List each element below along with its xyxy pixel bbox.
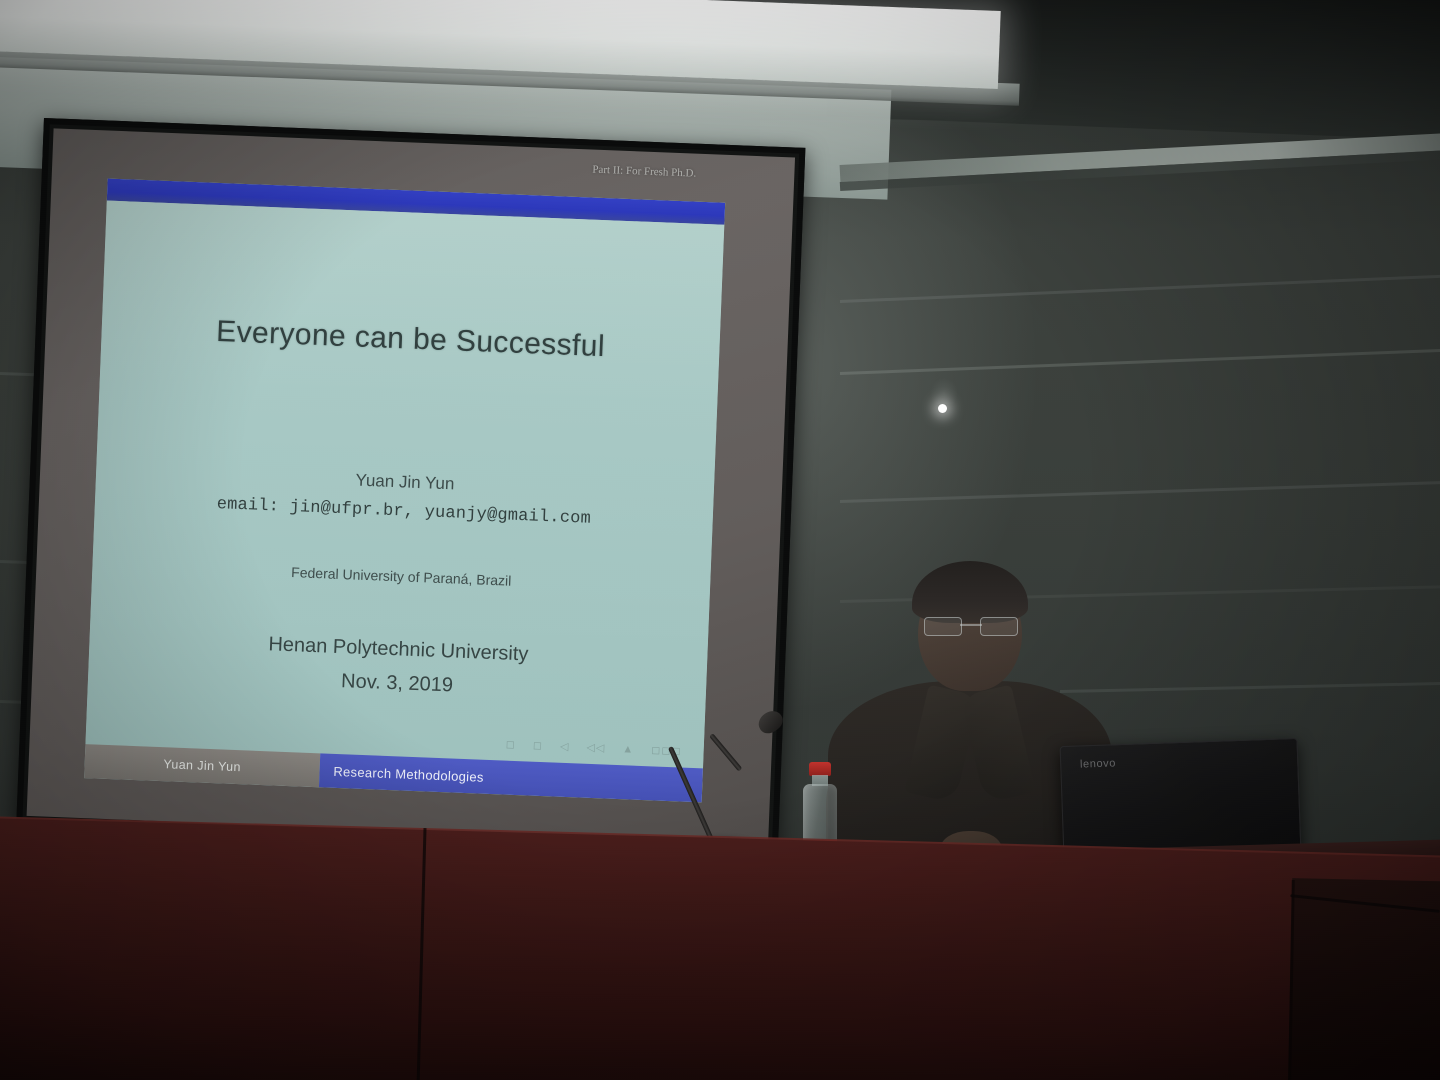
nav-forward-icon[interactable]: ◁◁ (586, 741, 605, 755)
wall-led-spot-icon (938, 404, 947, 413)
laptop-brand-logo: lenovo (1080, 757, 1116, 770)
lecture-hall-photo: Part I: For Research Part II: For Fresh … (0, 0, 1440, 1080)
podium-front-panel (0, 818, 1440, 1080)
nav-up-icon[interactable]: ▲ (622, 743, 634, 755)
presenter-hair (912, 561, 1028, 623)
light-bracket (930, 378, 958, 404)
microphone-capsule (755, 707, 787, 738)
eyeglass-bridge (960, 624, 982, 626)
nav-prev-icon[interactable]: ◻ (533, 739, 544, 752)
eyeglass-lens-left (924, 617, 962, 636)
projected-slide: Everyone can be Successful Yuan Jin Yun … (84, 179, 725, 803)
bottle-cap (809, 762, 831, 776)
eyeglasses-icon (924, 617, 1018, 634)
part-label-right: Part II: For Fresh Ph.D. (592, 164, 696, 180)
nav-first-icon[interactable]: ◻ (506, 738, 517, 751)
nav-back-icon[interactable]: ◁ (560, 740, 570, 753)
microphone-neck-upper (709, 733, 742, 771)
eyeglass-lens-right (980, 617, 1018, 636)
